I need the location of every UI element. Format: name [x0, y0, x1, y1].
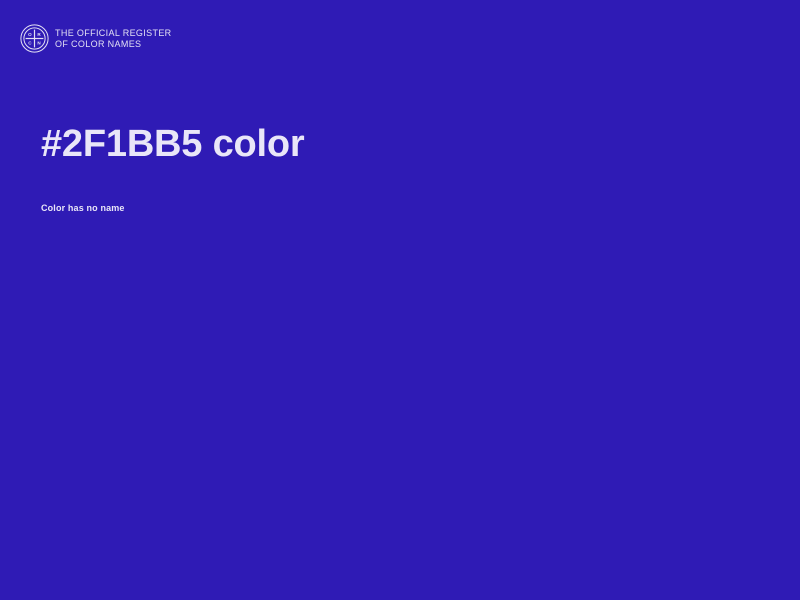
svg-text:O: O — [28, 32, 32, 37]
color-name-status: Color has no name — [41, 168, 741, 215]
brand-wordmark-line-2: OF COLOR NAMES — [55, 39, 172, 50]
page-title: #2F1BB5 color — [41, 120, 741, 168]
register-seal-icon: O R C N — [20, 24, 49, 53]
color-page: O R C N THE OFFICIAL REGISTER OF COLOR N… — [0, 0, 800, 600]
svg-text:N: N — [37, 41, 41, 46]
svg-text:C: C — [28, 41, 32, 46]
svg-text:R: R — [37, 32, 41, 37]
brand-wordmark-line-1: THE OFFICIAL REGISTER — [55, 28, 172, 39]
brand-wordmark: THE OFFICIAL REGISTER OF COLOR NAMES — [55, 27, 172, 50]
color-info-block: #2F1BB5 color Color has no name — [41, 120, 741, 215]
site-header[interactable]: O R C N THE OFFICIAL REGISTER OF COLOR N… — [20, 24, 172, 53]
